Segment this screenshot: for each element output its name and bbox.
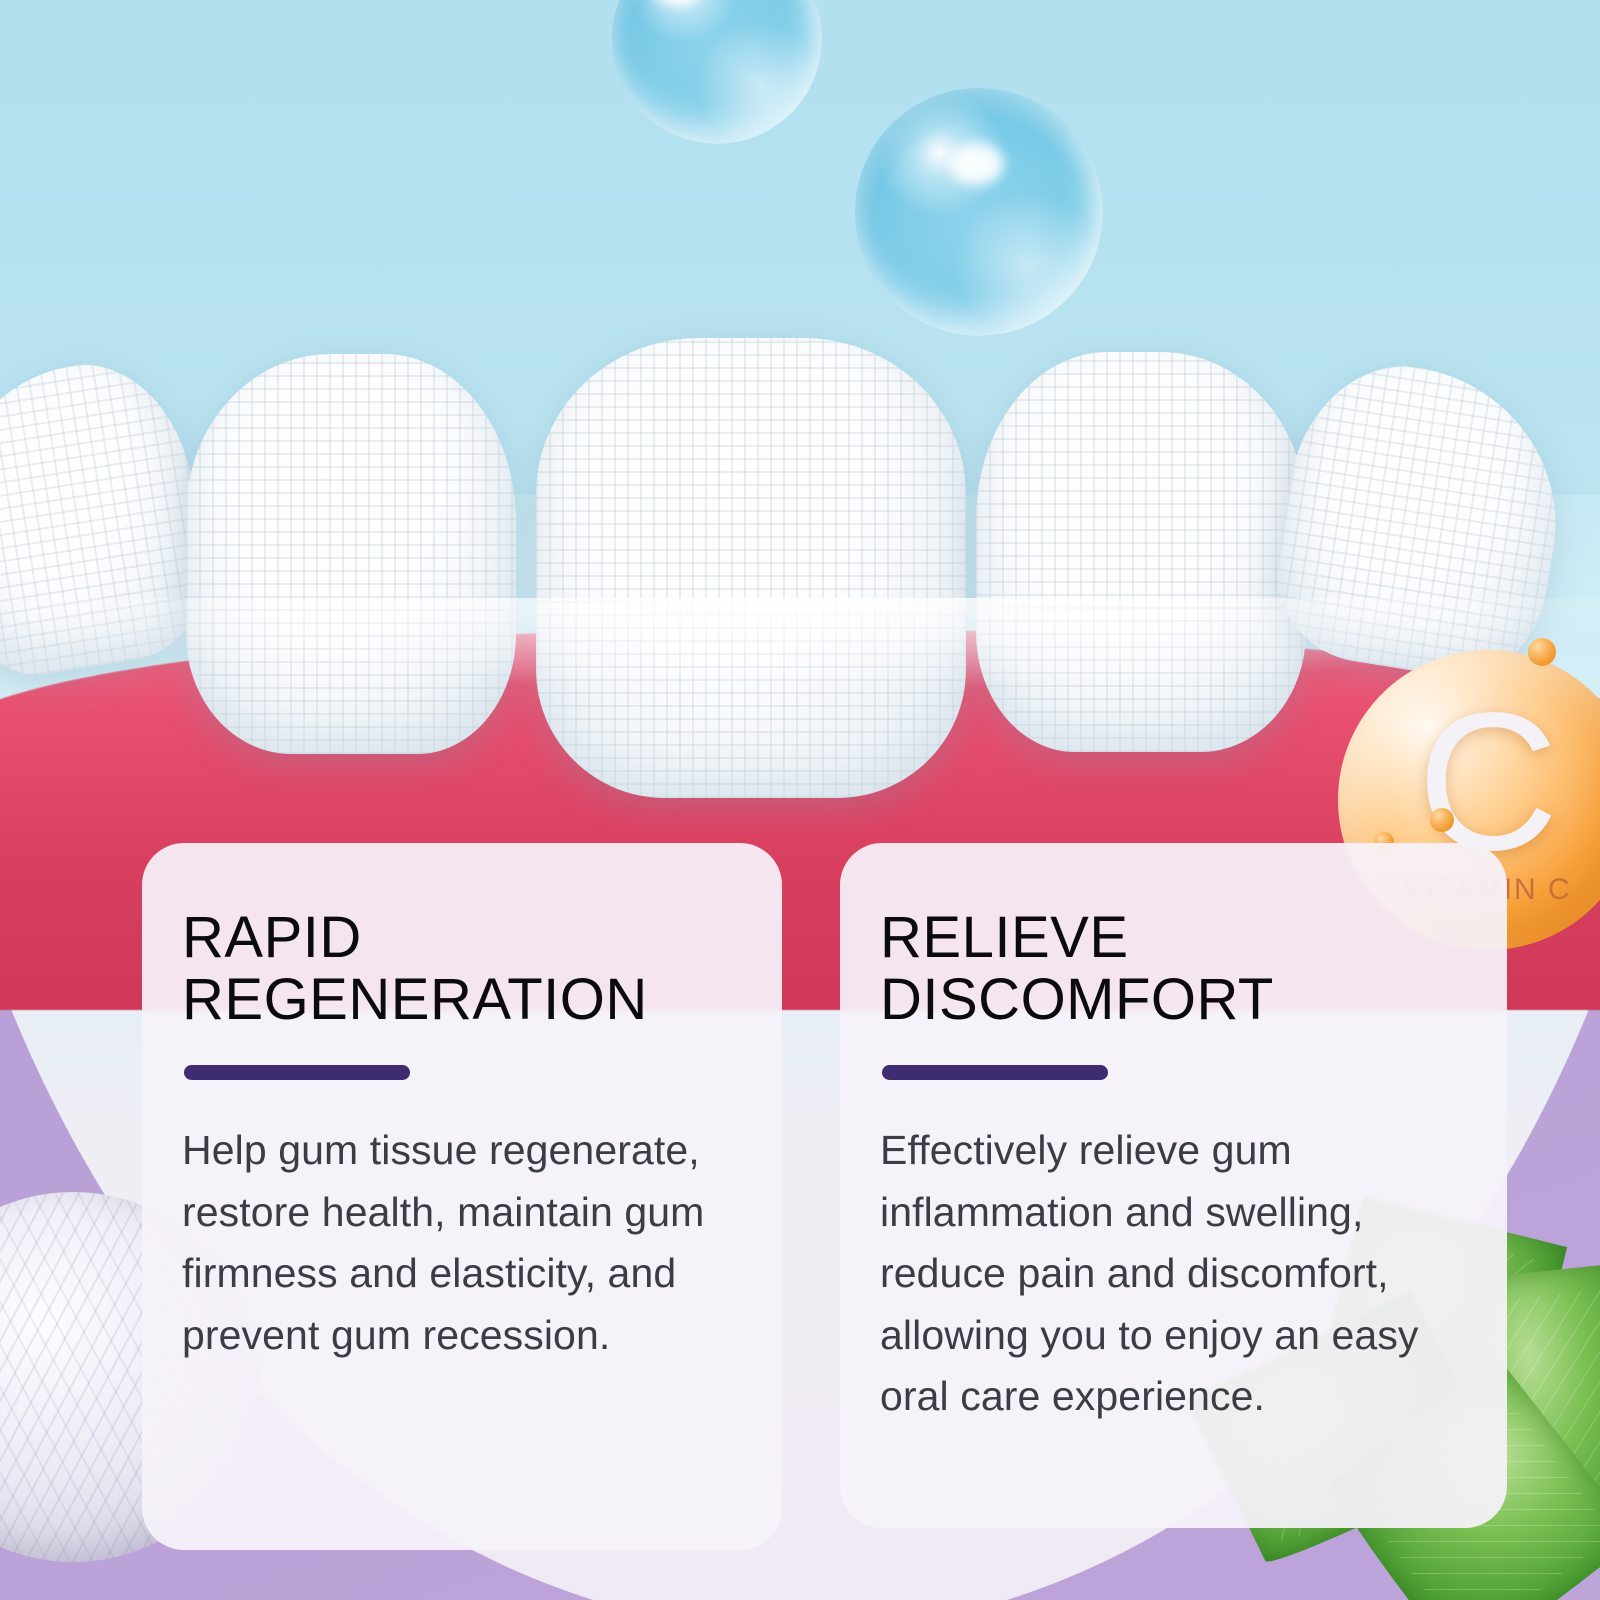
water-bubble-icon: [855, 88, 1103, 336]
feature-card-relieve-discomfort: RELIEVE DISCOMFORT Effectively relieve g…: [840, 843, 1507, 1528]
feature-card-body: Effectively relieve gum inflammation and…: [880, 1120, 1463, 1428]
vitamin-droplet-icon: [1430, 808, 1454, 832]
feature-card-title: RELIEVE DISCOMFORT: [880, 907, 1463, 1031]
accent-divider: [882, 1065, 1108, 1080]
vitamin-droplet-icon: [1528, 638, 1556, 666]
accent-divider: [184, 1065, 410, 1080]
tooth-left: [186, 354, 516, 754]
infographic-canvas: C VITAMIN C RAPID REGENERATION Help gum …: [0, 0, 1600, 1600]
feature-card-rapid-regeneration: RAPID REGENERATION Help gum tissue regen…: [142, 843, 782, 1550]
tooth-right: [976, 352, 1306, 752]
feature-card-body: Help gum tissue regenerate, restore heal…: [182, 1120, 738, 1366]
tooth-center: [536, 338, 966, 798]
feature-card-title: RAPID REGENERATION: [182, 907, 738, 1031]
